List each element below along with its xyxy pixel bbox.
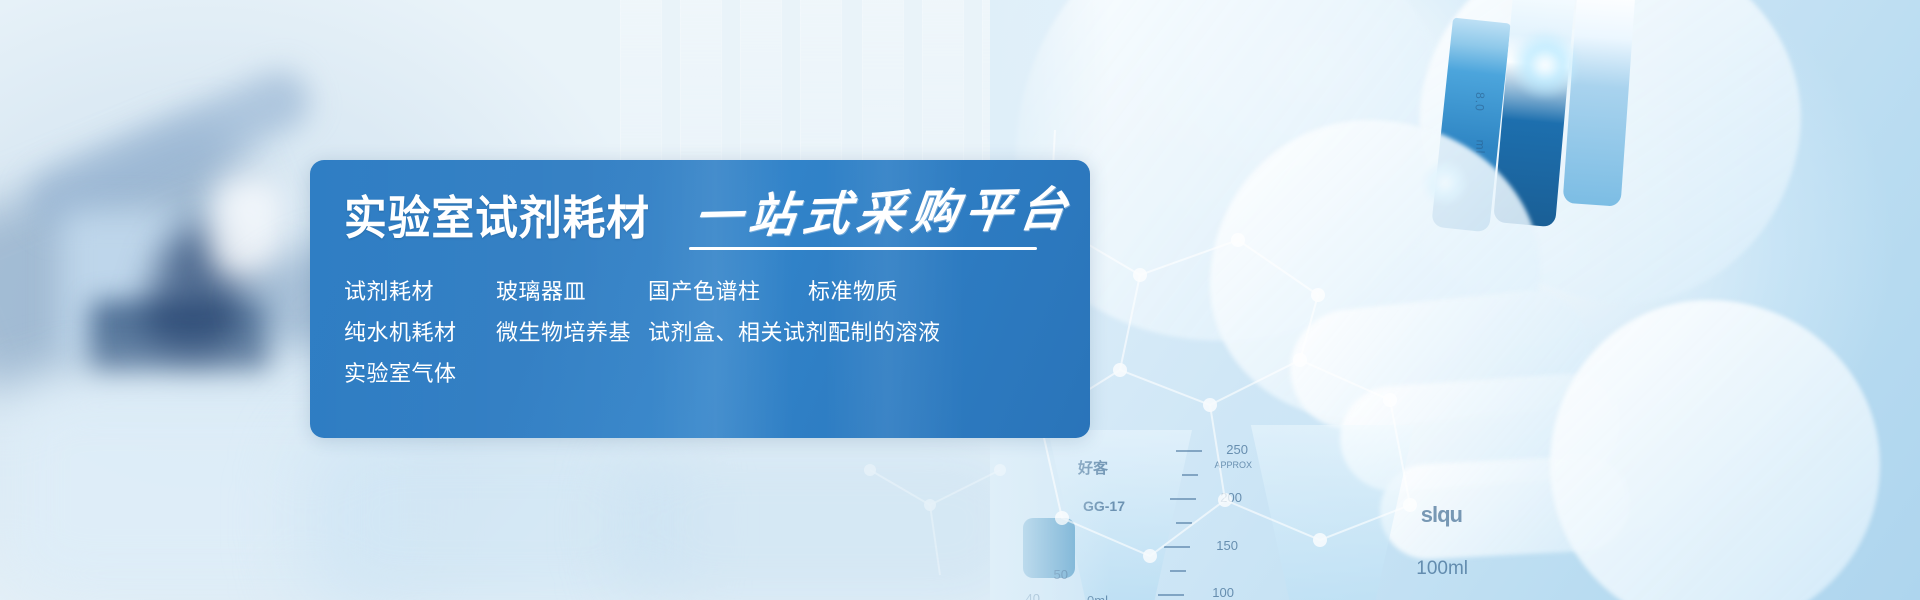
- beaker-scale-250: 250: [1226, 442, 1248, 457]
- beaker-blue-patch: [1023, 518, 1075, 578]
- category-item[interactable]: 纯水机耗材: [344, 322, 496, 344]
- category-item[interactable]: 实验室气体: [344, 363, 496, 385]
- beaker-scale-100: 100: [1212, 585, 1234, 600]
- category-item[interactable]: 试剂盒、相关试剂配制的溶液: [648, 322, 941, 344]
- headline-script-group: 一站式采购平台: [695, 190, 1073, 241]
- promo-card: 实验室试剂耗材 一站式采购平台 试剂耗材 玻璃器皿 国产色谱柱 标准物质 纯水机…: [310, 160, 1090, 438]
- category-row: 试剂耗材 玻璃器皿 国产色谱柱 标准物质: [344, 271, 1090, 312]
- beaker-left: [1020, 430, 1220, 600]
- headline-main-text: 实验室试剂耗材: [344, 195, 650, 241]
- beaker-brand-slqu: slqu: [1421, 502, 1462, 528]
- beaker-scale-approx: APPROX: [1214, 460, 1252, 470]
- category-item[interactable]: 玻璃器皿: [496, 281, 648, 303]
- headline-script-text: 一站式采购平台: [692, 186, 1077, 241]
- beaker-scale-150: 150: [1216, 538, 1238, 553]
- category-row: 纯水机耗材 微生物培养基 试剂盒、相关试剂配制的溶液: [344, 312, 1090, 353]
- beaker-scale-40: 40: [1026, 591, 1040, 600]
- beaker-capacity-0ml: 0ml: [1087, 593, 1108, 600]
- category-item[interactable]: 标准物质: [808, 281, 898, 303]
- gloved-hand-bottom: [1550, 300, 1880, 600]
- headline-underline: [689, 247, 1037, 250]
- beaker-glass-code-label: GG-17: [1083, 498, 1125, 514]
- category-row: 实验室气体: [344, 353, 1090, 394]
- category-item[interactable]: 国产色谱柱: [648, 281, 808, 303]
- beaker-capacity-100ml: 100ml: [1416, 558, 1468, 580]
- headline-group: 实验室试剂耗材 一站式采购平台: [344, 190, 1090, 241]
- beaker-scale-50: 50: [1054, 567, 1068, 582]
- beaker-brand-label-cn: 好客: [1078, 457, 1108, 478]
- background-right-lab-photo: 8.0 ml 好客 GG-17 250 APPROX 200 150 100 5…: [990, 0, 1920, 600]
- category-list: 试剂耗材 玻璃器皿 国产色谱柱 标准物质 纯水机耗材 微生物培养基 试剂盒、相关…: [344, 271, 1090, 394]
- beaker-scale-200: 200: [1220, 490, 1242, 505]
- tube-highlight-glow: [1510, 30, 1580, 100]
- laboratory-supplies-banner: 8.0 ml 好客 GG-17 250 APPROX 200 150 100 5…: [0, 0, 1920, 600]
- category-item[interactable]: 试剂耗材: [344, 281, 496, 303]
- category-item[interactable]: 微生物培养基: [496, 322, 648, 344]
- test-tube-label-volume: 8.0: [1473, 92, 1488, 112]
